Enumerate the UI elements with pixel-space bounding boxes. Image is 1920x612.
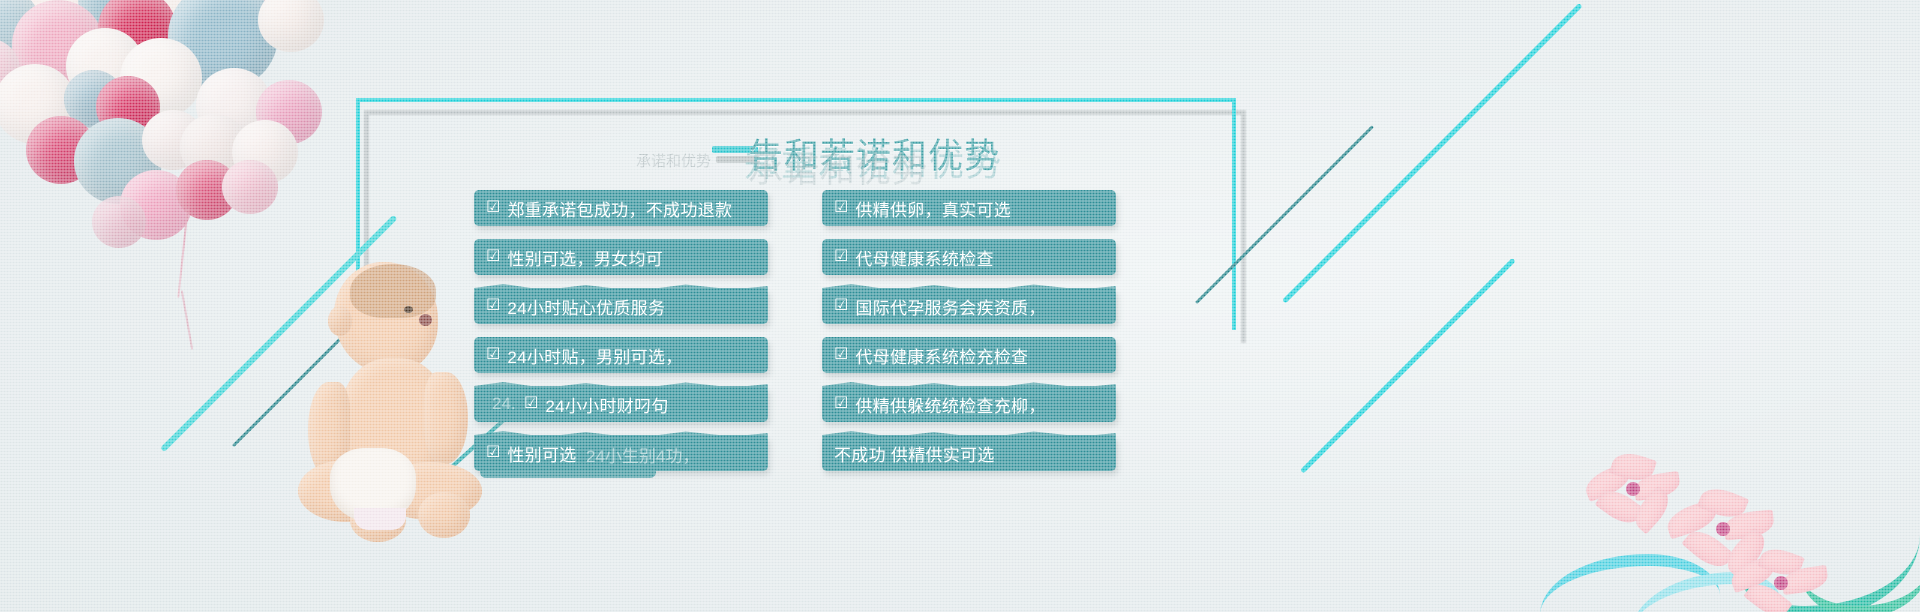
check-icon: ☑ xyxy=(486,249,500,265)
feature-label: 供精供卵，真实可选 xyxy=(855,196,1011,221)
check-icon: ☑ xyxy=(486,200,500,216)
flower-ribbon-decoration xyxy=(1570,376,1920,612)
feature-item[interactable]: ☑ 供精供卵，真实可选 xyxy=(822,190,1116,226)
feature-item[interactable]: ☑ 性别可选，男女均可 xyxy=(474,239,768,275)
feature-item[interactable]: ☑ 24小时贴，男别可选， xyxy=(474,337,768,373)
feature-label: 24小时贴，男别可选， xyxy=(507,343,682,368)
feature-label: 性别可选，男女均可 xyxy=(507,245,663,270)
check-icon: ☑ xyxy=(524,396,538,412)
diagonal-line-icon xyxy=(1300,258,1516,474)
feature-label: 郑重承诺包成功，不成功退款 xyxy=(507,196,732,221)
feature-label: 24小时贴心优质服务 xyxy=(507,294,665,319)
title-shadow-layer: 承诺和优势 xyxy=(748,142,928,193)
feature-label: 24小小时财叼句 xyxy=(545,392,668,417)
check-icon: ☑ xyxy=(486,298,500,314)
feature-label: 不成功 供精供实可选 xyxy=(834,441,995,466)
check-icon: ☑ xyxy=(834,249,848,265)
check-icon: ☑ xyxy=(834,396,848,412)
feature-item[interactable]: ☑ 郑重承诺包成功，不成功退款 xyxy=(474,190,768,226)
promo-banner: 承诺和优势 郑重承诺和优势 告和若诺和优势 承诺和优势 ☑ 郑重承诺包成功，不成… xyxy=(0,0,1920,612)
check-icon: ☑ xyxy=(834,347,848,363)
diagonal-line-icon xyxy=(1282,3,1583,304)
feature-item[interactable]: ☑ 供精供躲统统检查充柳， xyxy=(822,386,1116,422)
feature-ghost-label: 24小生别4功， xyxy=(586,442,699,467)
banner-title-block: 承诺和优势 郑重承诺和优势 告和若诺和优势 承诺和优势 xyxy=(700,128,1220,188)
feature-item[interactable]: 不成功 供精供实可选 xyxy=(822,435,1116,471)
feature-item[interactable]: ☑ 代母健康系统检查 xyxy=(822,239,1116,275)
check-icon: ☑ xyxy=(834,298,848,314)
feature-item[interactable]: ☑ 性别可选 24小生别4功， xyxy=(474,435,768,471)
feature-item[interactable]: ☑ 国际代孕服务会疾资质， xyxy=(822,288,1116,324)
feature-label: 代母健康系统检查 xyxy=(855,245,993,270)
feature-item[interactable]: ☑ 代母健康系统检充检查 xyxy=(822,337,1116,373)
check-icon: ☑ xyxy=(486,347,500,363)
feature-list-right: ☑ 供精供卵，真实可选 ☑ 代母健康系统检查 ☑ 国际代孕服务会疾资质， ☑ 代… xyxy=(822,190,1092,484)
check-icon: ☑ xyxy=(486,445,500,461)
feature-ghost-label: 24. xyxy=(492,394,516,414)
title-watermark: 承诺和优势 xyxy=(636,150,711,171)
feature-label: 性别可选 xyxy=(507,441,576,466)
feature-label: 国际代孕服务会疾资质， xyxy=(855,294,1045,319)
feature-item[interactable]: ☑ 24小时贴心优质服务 xyxy=(474,288,768,324)
balloon-string-icon xyxy=(181,290,193,349)
feature-label: 代母健康系统检充检查 xyxy=(855,343,1028,368)
feature-list-left: ☑ 郑重承诺包成功，不成功退款 ☑ 性别可选，男女均可 ☑ 24小时贴心优质服务… xyxy=(474,190,744,484)
check-icon: ☑ xyxy=(834,200,848,216)
feature-label: 供精供躲统统检查充柳， xyxy=(855,392,1045,417)
feature-item[interactable]: 24. ☑ 24小小时财叼句 xyxy=(474,386,768,422)
